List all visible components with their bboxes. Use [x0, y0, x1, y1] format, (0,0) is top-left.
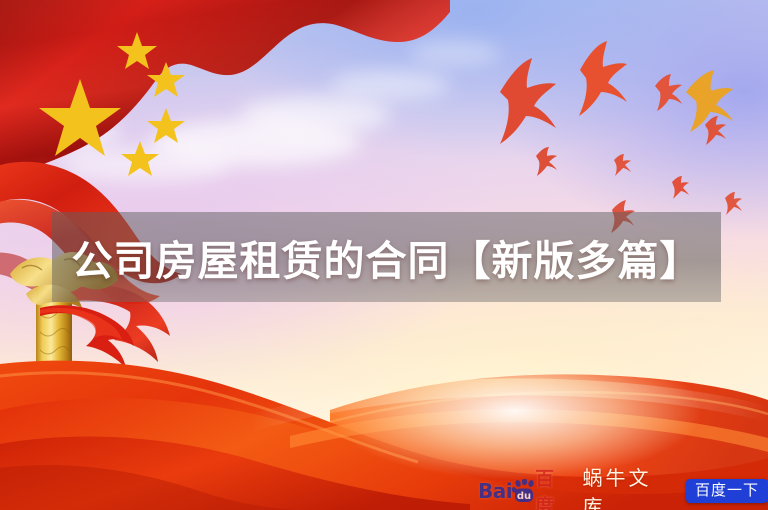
- bird-icon: [536, 147, 557, 176]
- bird-icon: [614, 154, 631, 176]
- bird-icon: [672, 176, 689, 199]
- page-title: 公司房屋租赁的合同【新版多篇】: [52, 212, 721, 302]
- baidu-search-button[interactable]: 百度一下: [686, 479, 768, 503]
- bird-icon: [579, 41, 627, 116]
- site-name-label: 蜗牛文库: [582, 462, 670, 510]
- bird-icon: [725, 192, 742, 215]
- bird-icon: [655, 74, 682, 111]
- banner-image: 公司房屋租赁的合同【新版多篇】 Bai du 百度 蜗牛文库 百度一下: [0, 0, 768, 510]
- baidu-logo[interactable]: Bai du 百度: [478, 479, 568, 503]
- baidu-paw-icon: du: [511, 479, 537, 503]
- bird-icon: [705, 116, 726, 145]
- svg-text:du: du: [517, 491, 531, 502]
- watermark-bar: Bai du 百度 蜗牛文库 百度一下: [478, 474, 768, 508]
- bird-icon: [500, 58, 556, 144]
- baidu-chinese-text: 百度: [535, 464, 568, 510]
- baidu-latin-text: Bai: [478, 479, 512, 503]
